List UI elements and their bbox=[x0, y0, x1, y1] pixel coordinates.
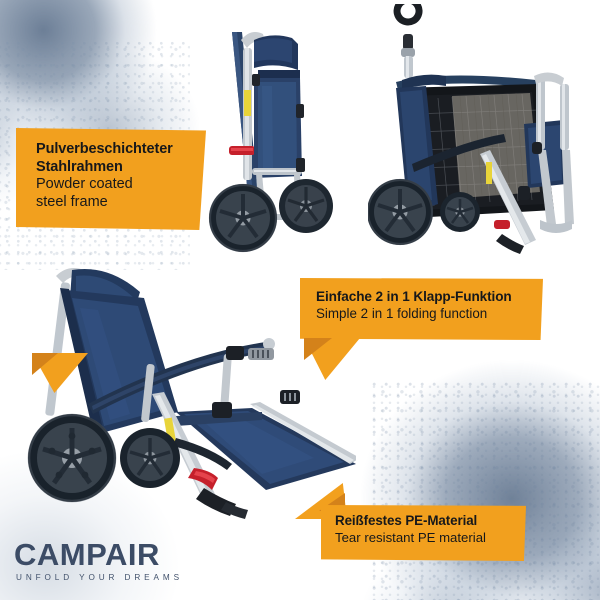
callout-title-de-line1: Pulverbeschichteter bbox=[36, 141, 188, 159]
infographic-canvas: Pulverbeschichteter Stahlrahmen Powder c… bbox=[0, 0, 600, 600]
brand-name: CAMPAIR bbox=[14, 538, 183, 572]
callout-title-de: Reißfestes PE-Material bbox=[335, 513, 514, 530]
callout-pe-material[interactable]: Reißfestes PE-Material Tear resistant PE… bbox=[321, 505, 526, 561]
callout-title-en-line1: Powder coated bbox=[36, 176, 188, 194]
callout-title-en-line2: steel frame bbox=[36, 194, 188, 212]
callout-title-en: Tear resistant PE material bbox=[335, 530, 514, 547]
product-photo-folded-trolley bbox=[196, 18, 346, 270]
callout-box-pe: Reißfestes PE-Material Tear resistant PE… bbox=[321, 505, 526, 561]
callout-box-folding: Einfache 2 in 1 Klapp-Funktion Simple 2 … bbox=[300, 278, 543, 340]
watercolor-wash-bottom-right bbox=[360, 360, 600, 600]
callout-title-de: Einfache 2 in 1 Klapp-Funktion bbox=[316, 288, 529, 305]
callout-powder-coated-steel-frame[interactable]: Pulverbeschichteter Stahlrahmen Powder c… bbox=[16, 128, 206, 230]
callout-title-de-line2: Stahlrahmen bbox=[36, 159, 188, 177]
brand-tagline: UNFOLD YOUR DREAMS bbox=[14, 573, 183, 582]
callout-box-frame: Pulverbeschichteter Stahlrahmen Powder c… bbox=[16, 128, 206, 230]
brand-logo: CAMPAIR UNFOLD YOUR DREAMS bbox=[14, 538, 183, 582]
callout-title-en: Simple 2 in 1 folding function bbox=[316, 305, 529, 322]
callout-folding-function[interactable]: Einfache 2 in 1 Klapp-Funktion Simple 2 … bbox=[300, 278, 543, 340]
product-photo-open-wagon bbox=[368, 4, 596, 266]
watercolor-spray-bottom-right bbox=[370, 380, 600, 600]
